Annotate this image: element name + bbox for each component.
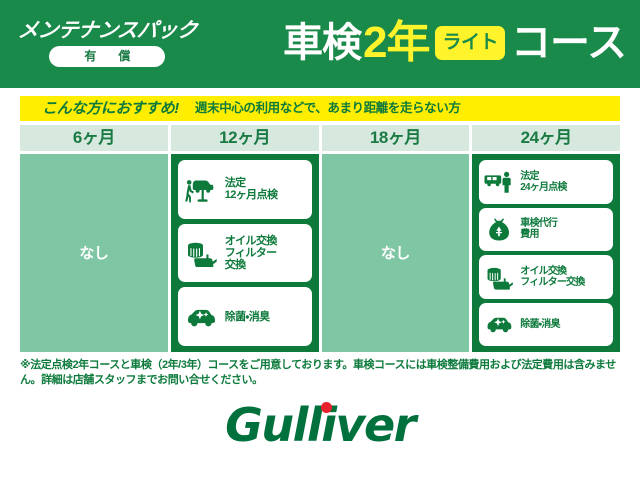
service-label: 除菌・消臭	[225, 311, 308, 323]
recommend-lead: こんな方におすすめ!	[42, 101, 179, 116]
car-lift-inspection-icon	[182, 175, 220, 203]
service-card[interactable]: 法定 12ヶ月点検	[178, 160, 312, 219]
shaken-label: 車検	[283, 23, 361, 63]
car-sanitize-icon	[483, 313, 515, 335]
car-sanitize-icon	[182, 305, 220, 329]
column-body-18m: なし	[322, 154, 470, 352]
paid-badge: 有 償	[49, 46, 165, 67]
years-number: 2年	[363, 21, 429, 65]
column-header-24m: 24ヶ月	[472, 125, 620, 151]
service-label: 法定 24ヶ月点検	[520, 171, 609, 193]
column-body-6m: なし	[20, 154, 168, 352]
column-header-12m: 12ヶ月	[171, 125, 319, 151]
service-card[interactable]: 法定 24ヶ月点検	[479, 160, 613, 204]
oil-filter-change-icon	[182, 239, 220, 267]
service-card[interactable]: オイル交換 フィルター交換	[479, 255, 613, 299]
service-label: 車検代行 費用	[520, 218, 609, 240]
table-column-bodies: なし	[20, 154, 620, 352]
service-label: 除菌・消臭	[520, 319, 609, 330]
column-header-6m: 6ヶ月	[20, 125, 168, 151]
header-left-group: メンテナンスパック 有 償	[18, 21, 197, 68]
gulliver-logo: Gulliver	[225, 402, 415, 448]
service-label: オイル交換 フィルター 交換	[225, 235, 308, 272]
recommend-banner-wrap: こんな方におすすめ! 週末中心の利用などで、あまり距離を走らない方	[0, 88, 640, 121]
none-label-6m: なし	[79, 246, 108, 261]
column-body-24m: 法定 24ヶ月点検 車検代行 費用	[472, 154, 620, 352]
light-badge: ライト	[435, 26, 505, 60]
table-column-headers: 6ヶ月 12ヶ月 18ヶ月 24ヶ月	[20, 125, 620, 151]
recommend-body: 週末中心の利用などで、あまり距離を走らない方	[195, 102, 460, 115]
oil-filter-change-icon	[483, 264, 515, 290]
column-header-18m: 18ヶ月	[322, 125, 470, 151]
service-card[interactable]: 除菌・消臭	[178, 287, 312, 346]
service-label: オイル交換 フィルター交換	[520, 266, 609, 288]
header-bar: メンテナンスパック 有 償 車検 2年 ライト コース	[0, 0, 640, 88]
gulliver-logo-dot-icon	[321, 402, 332, 413]
service-card[interactable]: 車検代行 費用	[479, 208, 613, 252]
service-table: 6ヶ月 12ヶ月 18ヶ月 24ヶ月 なし	[0, 121, 640, 352]
none-label-18m: なし	[381, 246, 410, 261]
course-label: コース	[511, 23, 626, 63]
header-right-group: 車検 2年 ライト コース	[207, 21, 626, 67]
gulliver-logo-text: Gulliver	[225, 398, 415, 452]
footnote-text: ※法定点検2年コースと車検（2年/3年）コースをご用意しております。車検コースに…	[0, 352, 640, 388]
maintenance-pack-banner: メンテナンスパック 有 償 車検 2年 ライト コース こんな方におすすめ! 週…	[0, 0, 640, 480]
money-bag-yen-icon	[483, 216, 515, 242]
brand-logo-area: Gulliver	[0, 390, 640, 460]
service-card[interactable]: オイル交換 フィルター 交換	[178, 224, 312, 283]
van-inspection-icon	[483, 170, 515, 194]
service-label: 法定 12ヶ月点検	[225, 177, 308, 202]
service-card[interactable]: 除菌・消臭	[479, 303, 613, 347]
recommend-banner: こんな方におすすめ! 週末中心の利用などで、あまり距離を走らない方	[20, 96, 620, 121]
column-body-12m: 法定 12ヶ月点検	[171, 154, 319, 352]
maintenance-pack-title: メンテナンスパック	[17, 21, 198, 42]
